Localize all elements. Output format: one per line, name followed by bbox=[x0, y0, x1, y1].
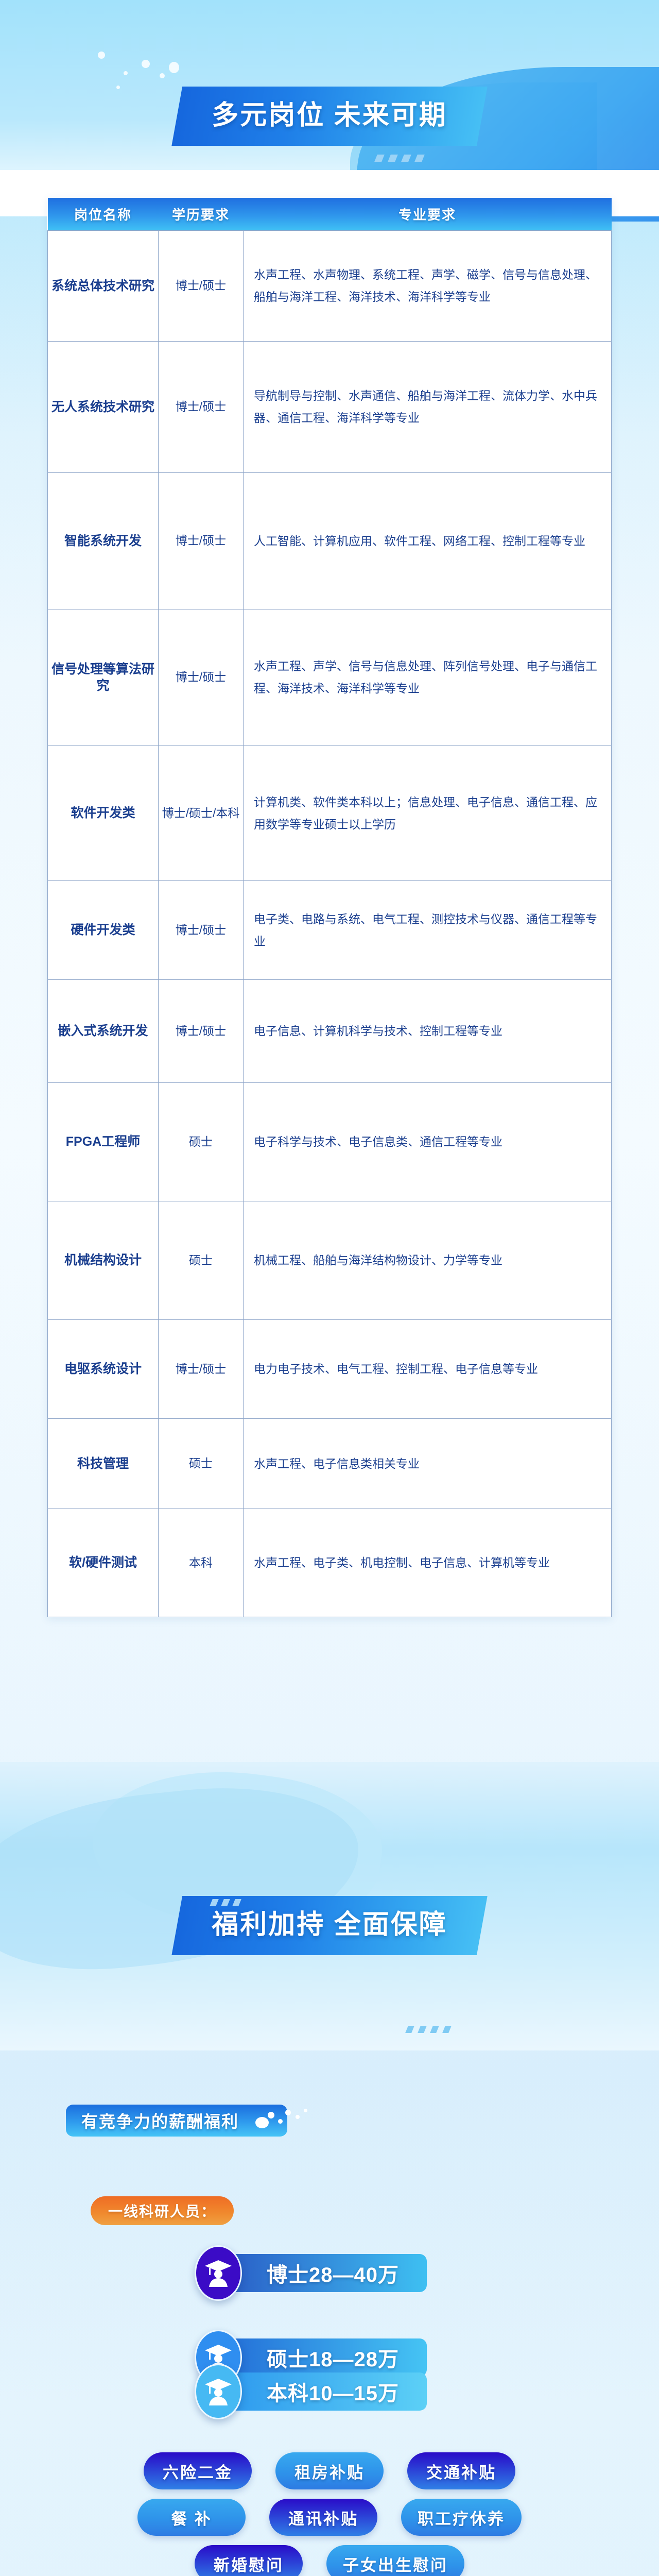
cell-major: 水声工程、电子类、机电控制、电子信息、计算机等专业 bbox=[244, 1509, 612, 1617]
welfare-banner-title: 福利加持 全面保障 bbox=[212, 1910, 447, 1940]
cell-position-name: 无人系统技术研究 bbox=[48, 342, 159, 473]
froth-decoration bbox=[252, 2108, 319, 2133]
benefit-pill[interactable]: 六险二金 bbox=[144, 2452, 252, 2489]
column-header-education: 学历要求 bbox=[159, 198, 244, 231]
benefit-pill[interactable]: 新婚慰问 bbox=[195, 2545, 303, 2576]
banner-stripe-2 bbox=[388, 155, 398, 162]
cell-education: 博士/硕士 bbox=[159, 1320, 244, 1419]
salary-bar-doctor: 博士28—40万 bbox=[229, 2254, 427, 2292]
graduation-cap-icon bbox=[195, 2245, 242, 2301]
cell-major: 电子信息、计算机科学与技术、控制工程等专业 bbox=[244, 980, 612, 1083]
cell-position-name: 嵌入式系统开发 bbox=[48, 980, 159, 1083]
benefit-pill[interactable]: 子女出生慰问 bbox=[326, 2545, 464, 2576]
cell-education: 博士/硕士 bbox=[159, 609, 244, 746]
cell-education: 本科 bbox=[159, 1509, 244, 1617]
welfare-banner-stripe-4 bbox=[405, 2026, 414, 2033]
banner-stripe-3 bbox=[401, 155, 411, 162]
benefit-row-3: 新婚慰问 子女出生慰问 bbox=[46, 2545, 613, 2576]
cell-position-name: 科技管理 bbox=[48, 1419, 159, 1509]
main-banner-wrap: 多元岗位 未来可期 bbox=[0, 87, 659, 146]
cell-major: 电力电子技术、电气工程、控制工程、电子信息等专业 bbox=[244, 1320, 612, 1419]
table-row: FPGA工程师 硕士 电子科学与技术、电子信息类、通信工程等专业 bbox=[48, 1083, 612, 1201]
benefit-row-1: 六险二金 租房补贴 交通补贴 bbox=[46, 2452, 613, 2489]
main-banner-title: 多元岗位 未来可期 bbox=[212, 100, 447, 130]
cell-position-name: 智能系统开发 bbox=[48, 473, 159, 609]
cell-major: 水声工程、电子信息类相关专业 bbox=[244, 1419, 612, 1509]
cell-education: 硕士 bbox=[159, 1083, 244, 1201]
cell-position-name: 机械结构设计 bbox=[48, 1201, 159, 1320]
cell-major: 水声工程、声学、信号与信息处理、阵列信号处理、电子与通信工程、海洋技术、海洋科学… bbox=[244, 609, 612, 746]
cell-major: 电子类、电路与系统、电气工程、测控技术与仪器、通信工程等专业 bbox=[244, 881, 612, 980]
salary-heading-label: 有竞争力的薪酬福利 bbox=[81, 2109, 239, 2132]
table-row: 系统总体技术研究 博士/硕士 水声工程、水声物理、系统工程、声学、磁学、信号与信… bbox=[48, 231, 612, 342]
column-header-position-name: 岗位名称 bbox=[48, 198, 159, 231]
table-row: 嵌入式系统开发 博士/硕士 电子信息、计算机科学与技术、控制工程等专业 bbox=[48, 980, 612, 1083]
salary-bar-bachelor: 本科10—15万 bbox=[229, 2372, 427, 2411]
cell-education: 博士/硕士 bbox=[159, 473, 244, 609]
table-row: 电驱系统设计 博士/硕士 电力电子技术、电气工程、控制工程、电子信息等专业 bbox=[48, 1320, 612, 1419]
cell-major: 电子科学与技术、电子信息类、通信工程等专业 bbox=[244, 1083, 612, 1201]
salary-label-doctor: 博士28—40万 bbox=[267, 2258, 399, 2288]
positions-table-card: 岗位名称 学历要求 专业要求 系统总体技术研究 博士/硕士 水声工程、水声物理、… bbox=[47, 198, 612, 1617]
cell-major: 水声工程、水声物理、系统工程、声学、磁学、信号与信息处理、船舶与海洋工程、海洋技… bbox=[244, 231, 612, 342]
benefit-pill[interactable]: 餐 补 bbox=[137, 2499, 246, 2536]
cell-education: 硕士 bbox=[159, 1419, 244, 1509]
table-row: 科技管理 硕士 水声工程、电子信息类相关专业 bbox=[48, 1419, 612, 1509]
cell-education: 博士/硕士 bbox=[159, 231, 244, 342]
cell-education: 博士/硕士/本科 bbox=[159, 746, 244, 881]
benefit-pill-rows: 六险二金 租房补贴 交通补贴 餐 补 通讯补贴 职工疗休养 新婚慰问 子女出生慰… bbox=[46, 2452, 613, 2576]
benefit-pill[interactable]: 租房补贴 bbox=[275, 2452, 384, 2489]
table-row: 无人系统技术研究 博士/硕士 导航制导与控制、水声通信、船舶与海洋工程、流体力学… bbox=[48, 342, 612, 473]
cell-education: 博士/硕士 bbox=[159, 342, 244, 473]
benefit-pill[interactable]: 交通补贴 bbox=[407, 2452, 515, 2489]
cell-major: 计算机类、软件类本科以上；信息处理、电子信息、通信工程、应用数学等专业硕士以上学… bbox=[244, 746, 612, 881]
welfare-banner-wrap: 福利加持 全面保障 bbox=[0, 1896, 659, 1955]
cell-position-name: 电驱系统设计 bbox=[48, 1320, 159, 1419]
positions-table: 岗位名称 学历要求 专业要求 系统总体技术研究 博士/硕士 水声工程、水声物理、… bbox=[47, 198, 612, 1617]
frontline-researcher-tag: 一线科研人员： bbox=[91, 2196, 234, 2225]
table-row: 软/硬件测试 本科 水声工程、电子类、机电控制、电子信息、计算机等专业 bbox=[48, 1509, 612, 1617]
frontline-researcher-label: 一线科研人员： bbox=[108, 2200, 216, 2221]
cell-position-name: 软/硬件测试 bbox=[48, 1509, 159, 1617]
cell-major: 导航制导与控制、水声通信、船舶与海洋工程、流体力学、水中兵器、通信工程、海洋科学… bbox=[244, 342, 612, 473]
benefit-pill[interactable]: 职工疗休养 bbox=[401, 2499, 522, 2536]
salary-row-bachelor-main: 本科10—15万 bbox=[195, 2364, 427, 2419]
table-row: 机械结构设计 硕士 机械工程、船舶与海洋结构物设计、力学等专业 bbox=[48, 1201, 612, 1320]
graduation-cap-icon bbox=[195, 2364, 242, 2419]
cell-education: 博士/硕士 bbox=[159, 980, 244, 1083]
table-row: 信号处理等算法研究 博士/硕士 水声工程、声学、信号与信息处理、阵列信号处理、电… bbox=[48, 609, 612, 746]
welfare-banner-stripe-6 bbox=[430, 2026, 439, 2033]
banner-stripe-4 bbox=[414, 155, 425, 162]
table-row: 软件开发类 博士/硕士/本科 计算机类、软件类本科以上；信息处理、电子信息、通信… bbox=[48, 746, 612, 881]
salary-row-doctor: 博士28—40万 bbox=[195, 2245, 427, 2301]
table-row: 智能系统开发 博士/硕士 人工智能、计算机应用、软件工程、网络工程、控制工程等专… bbox=[48, 473, 612, 609]
cell-education: 硕士 bbox=[159, 1201, 244, 1320]
cell-position-name: 系统总体技术研究 bbox=[48, 231, 159, 342]
graduation-cap-glyph bbox=[204, 2257, 233, 2289]
column-header-major: 专业要求 bbox=[244, 198, 612, 231]
salary-section-heading: 有竞争力的薪酬福利 bbox=[66, 2105, 287, 2137]
cell-major: 机械工程、船舶与海洋结构物设计、力学等专业 bbox=[244, 1201, 612, 1320]
salary-label-bachelor: 本科10—15万 bbox=[267, 2377, 399, 2406]
welfare-banner-stripe-5 bbox=[418, 2026, 427, 2033]
benefit-row-2: 餐 补 通讯补贴 职工疗休养 bbox=[46, 2499, 613, 2536]
cell-major: 人工智能、计算机应用、软件工程、网络工程、控制工程等专业 bbox=[244, 473, 612, 609]
graduation-cap-glyph bbox=[204, 2376, 233, 2408]
welfare-banner-stripe-7 bbox=[442, 2026, 452, 2033]
table-header-row: 岗位名称 学历要求 专业要求 bbox=[48, 198, 612, 231]
cell-position-name: 软件开发类 bbox=[48, 746, 159, 881]
cell-position-name: 信号处理等算法研究 bbox=[48, 609, 159, 746]
benefit-pill[interactable]: 通讯补贴 bbox=[269, 2499, 377, 2536]
table-row: 硬件开发类 博士/硕士 电子类、电路与系统、电气工程、测控技术与仪器、通信工程等… bbox=[48, 881, 612, 980]
cell-education: 博士/硕士 bbox=[159, 881, 244, 980]
banner-stripe-1 bbox=[374, 155, 385, 162]
positions-table-body: 系统总体技术研究 博士/硕士 水声工程、水声物理、系统工程、声学、磁学、信号与信… bbox=[48, 231, 612, 1617]
cell-position-name: FPGA工程师 bbox=[48, 1083, 159, 1201]
main-banner: 多元岗位 未来可期 bbox=[171, 87, 487, 146]
welfare-banner: 福利加持 全面保障 bbox=[171, 1896, 487, 1955]
cell-position-name: 硬件开发类 bbox=[48, 881, 159, 980]
